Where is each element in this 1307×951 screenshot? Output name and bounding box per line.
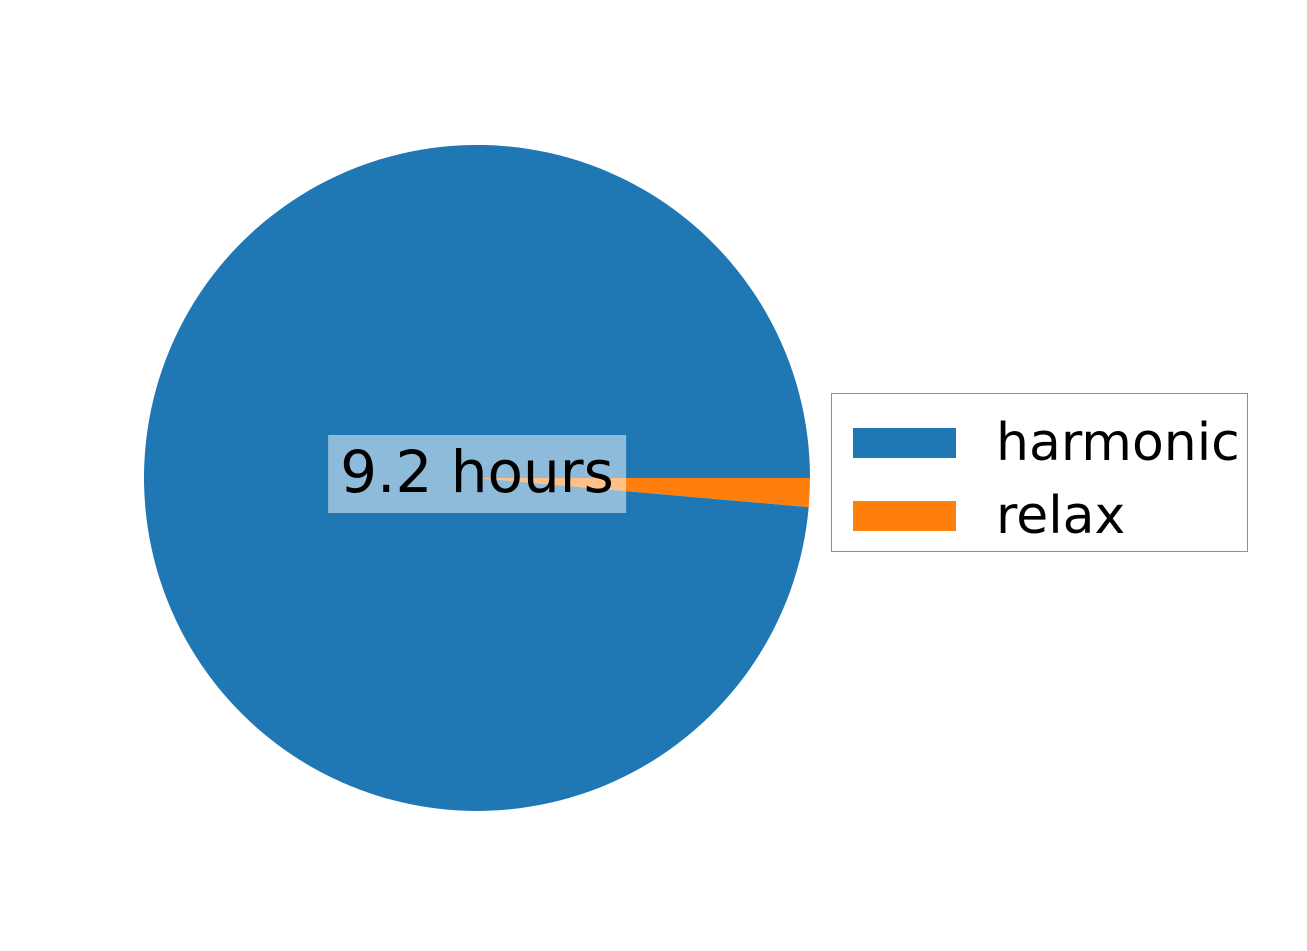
slice-label-harmonic: 9.2 hours — [328, 435, 626, 513]
legend-label-harmonic: harmonic — [996, 417, 1240, 469]
legend: harmonic relax — [831, 393, 1248, 552]
legend-label-relax: relax — [996, 490, 1125, 542]
legend-swatch-relax — [853, 501, 956, 531]
legend-item-harmonic[interactable]: harmonic — [832, 406, 1247, 479]
legend-item-relax[interactable]: relax — [832, 479, 1247, 552]
figure-canvas: 9.2 hours harmonic relax — [0, 0, 1307, 951]
legend-swatch-harmonic — [853, 428, 956, 458]
